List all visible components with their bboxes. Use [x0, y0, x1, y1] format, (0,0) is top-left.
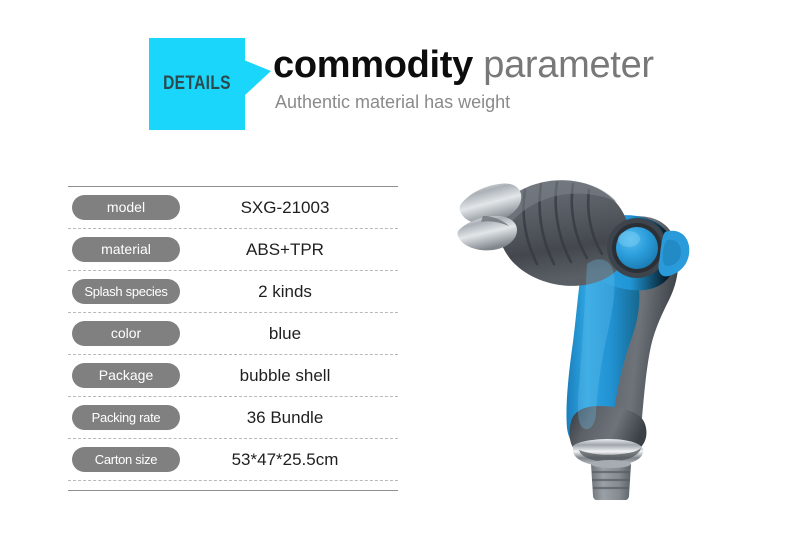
spec-label-material: material	[72, 237, 180, 262]
table-row: Carton size 53*47*25.5cm	[68, 438, 398, 480]
details-badge: DETAILS	[149, 38, 283, 130]
spec-label-package: Package	[72, 363, 180, 388]
table-row: material ABS+TPR	[68, 228, 398, 270]
table-last-dotted-rule	[68, 480, 398, 481]
page-subtitle: Authentic material has weight	[275, 91, 713, 113]
specification-table: model SXG-21003 material ABS+TPR Splash …	[68, 186, 398, 491]
table-row: Packing rate 36 Bundle	[68, 396, 398, 438]
table-row: Package bubble shell	[68, 354, 398, 396]
hose-connector	[591, 460, 631, 500]
spec-label-color: color	[72, 321, 180, 346]
spec-value-packing-rate: 36 Bundle	[180, 408, 398, 428]
spec-value-model: SXG-21003	[180, 198, 398, 218]
title-block: commodity parameter Authentic material h…	[273, 42, 713, 113]
product-image-spray-nozzle	[455, 160, 755, 500]
page-header: DETAILS commodity parameter Authentic ma…	[149, 38, 709, 138]
spec-value-package: bubble shell	[180, 366, 398, 386]
spec-label-carton-size: Carton size	[72, 447, 180, 472]
page-title-primary: commodity	[273, 44, 473, 86]
table-row: model SXG-21003	[68, 187, 398, 228]
spec-value-color: blue	[180, 324, 398, 344]
spec-label-splash-species: Splash species	[72, 279, 180, 304]
details-badge-pointer-icon	[244, 60, 271, 96]
product-detail-page: DETAILS commodity parameter Authentic ma…	[0, 0, 790, 534]
details-badge-label: DETAILS	[158, 38, 237, 130]
table-row: Splash species 2 kinds	[68, 270, 398, 312]
table-bottom-rule	[68, 490, 398, 491]
spec-value-material: ABS+TPR	[180, 240, 398, 260]
page-title: commodity parameter	[273, 42, 713, 88]
spec-value-splash-species: 2 kinds	[180, 282, 398, 302]
spec-value-carton-size: 53*47*25.5cm	[180, 450, 398, 470]
page-title-secondary: parameter	[483, 44, 654, 86]
nozzle-trigger-button	[607, 218, 667, 278]
spec-label-model: model	[72, 195, 180, 220]
spray-nozzle-illustration	[455, 160, 755, 500]
table-row: color blue	[68, 312, 398, 354]
spec-label-packing-rate: Packing rate	[72, 405, 180, 430]
